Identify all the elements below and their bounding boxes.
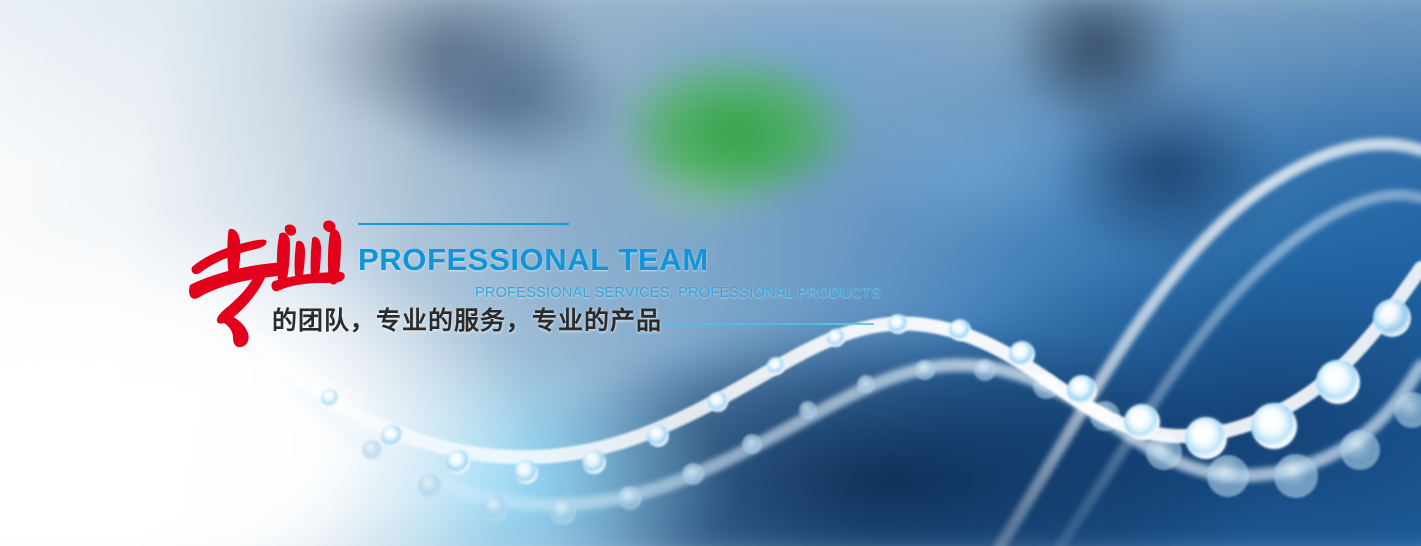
banner-subtitle-english: PROFESSIONAL SERVICES, PROFESSIONAL PROD… <box>475 286 881 301</box>
bottom-divider-rule <box>662 323 874 325</box>
top-divider-rule <box>358 223 569 225</box>
banner-tagline-chinese: 的团队，专业的服务，专业的产品 <box>272 307 662 336</box>
hero-banner: PROFESSIONAL TEAM PROFESSIONAL SERVICES,… <box>0 0 1421 546</box>
banner-title-english: PROFESSIONAL TEAM <box>358 244 709 275</box>
banner-copy-block: PROFESSIONAL TEAM PROFESSIONAL SERVICES,… <box>0 0 1421 546</box>
